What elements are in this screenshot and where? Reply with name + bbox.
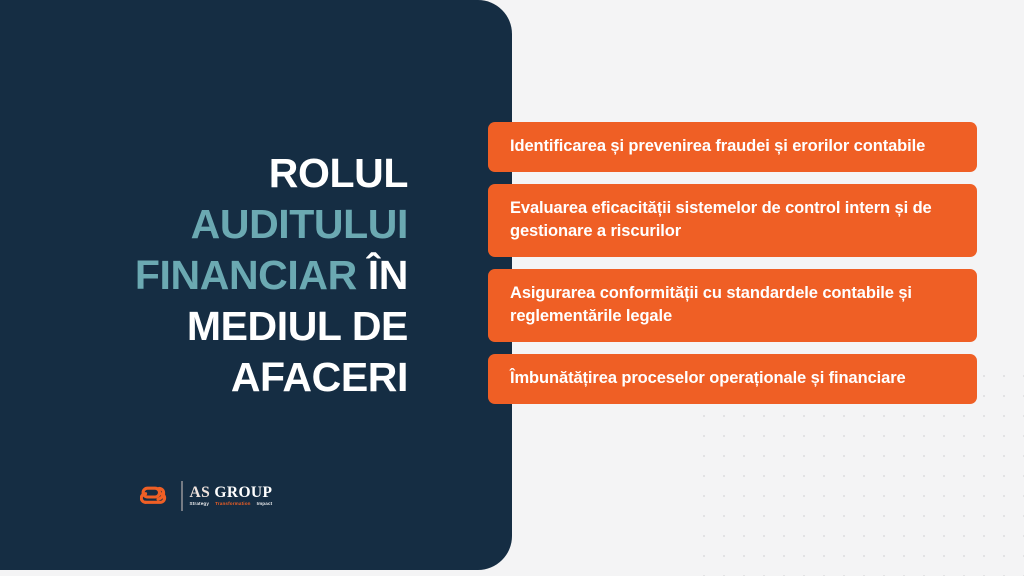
as-group-mark-icon — [140, 482, 174, 510]
logo-name-group: GROUP — [214, 484, 272, 501]
bullet-card: Identificarea și prevenirea fraudei și e… — [488, 122, 977, 172]
logo-text-block: AS GROUP Strategy Transformation Impact — [190, 485, 273, 507]
title-line-3-white: ÎN — [368, 252, 408, 298]
title-line-5: AFACERI — [40, 352, 408, 403]
title-line-3: FINANCIAR ÎN — [40, 250, 408, 301]
bullet-card: Evaluarea eficacității sistemelor de con… — [488, 184, 977, 257]
logo-tagline-strategy: Strategy — [190, 502, 210, 507]
logo-name-as: AS — [190, 484, 211, 501]
title-line-3-teal: FINANCIAR — [135, 252, 357, 298]
logo-tagline-transformation: Transformation — [215, 502, 251, 507]
title-line-2: AUDITULUI — [40, 199, 408, 250]
logo-tagline-impact: Impact — [257, 502, 273, 507]
as-group-logo: AS GROUP Strategy Transformation Impact — [140, 481, 272, 511]
logo-tagline: Strategy Transformation Impact — [190, 502, 273, 507]
page-title: ROLUL AUDITULUI FINANCIAR ÎN MEDIUL DE A… — [40, 148, 408, 403]
bullet-card-list: Identificarea și prevenirea fraudei și e… — [488, 122, 977, 404]
title-line-1: ROLUL — [40, 148, 408, 199]
logo-divider — [181, 481, 183, 511]
logo-name: AS GROUP — [190, 485, 273, 501]
title-line-4: MEDIUL DE — [40, 301, 408, 352]
bullet-card: Asigurarea conformității cu standardele … — [488, 269, 977, 342]
bullet-card: Îmbunătățirea proceselor operaționale și… — [488, 354, 977, 404]
